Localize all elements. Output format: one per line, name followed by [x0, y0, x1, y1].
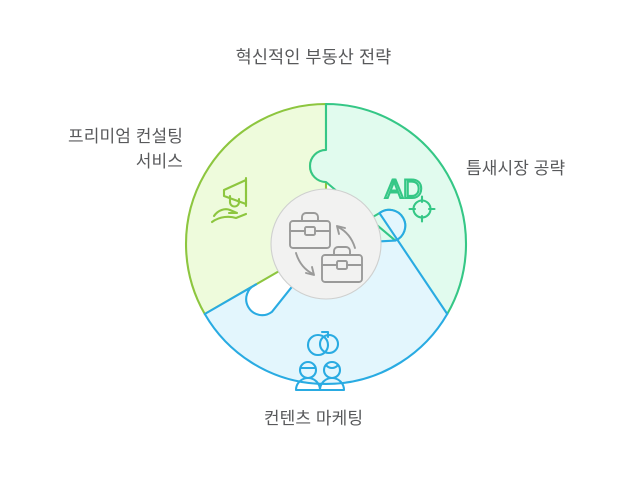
ad-icon-text: AD	[385, 174, 423, 204]
puzzle-wheel-diagram: 혁신적인 부동산 전략 AD	[0, 0, 627, 482]
segment-label-bottom: 컨텐츠 마케팅	[0, 407, 627, 432]
center-hub[interactable]	[271, 189, 381, 299]
segment-label-right: 틈새시장 공략	[466, 157, 626, 182]
segment-label-left: 프리미엄 컨설팅 서비스	[0, 125, 183, 174]
